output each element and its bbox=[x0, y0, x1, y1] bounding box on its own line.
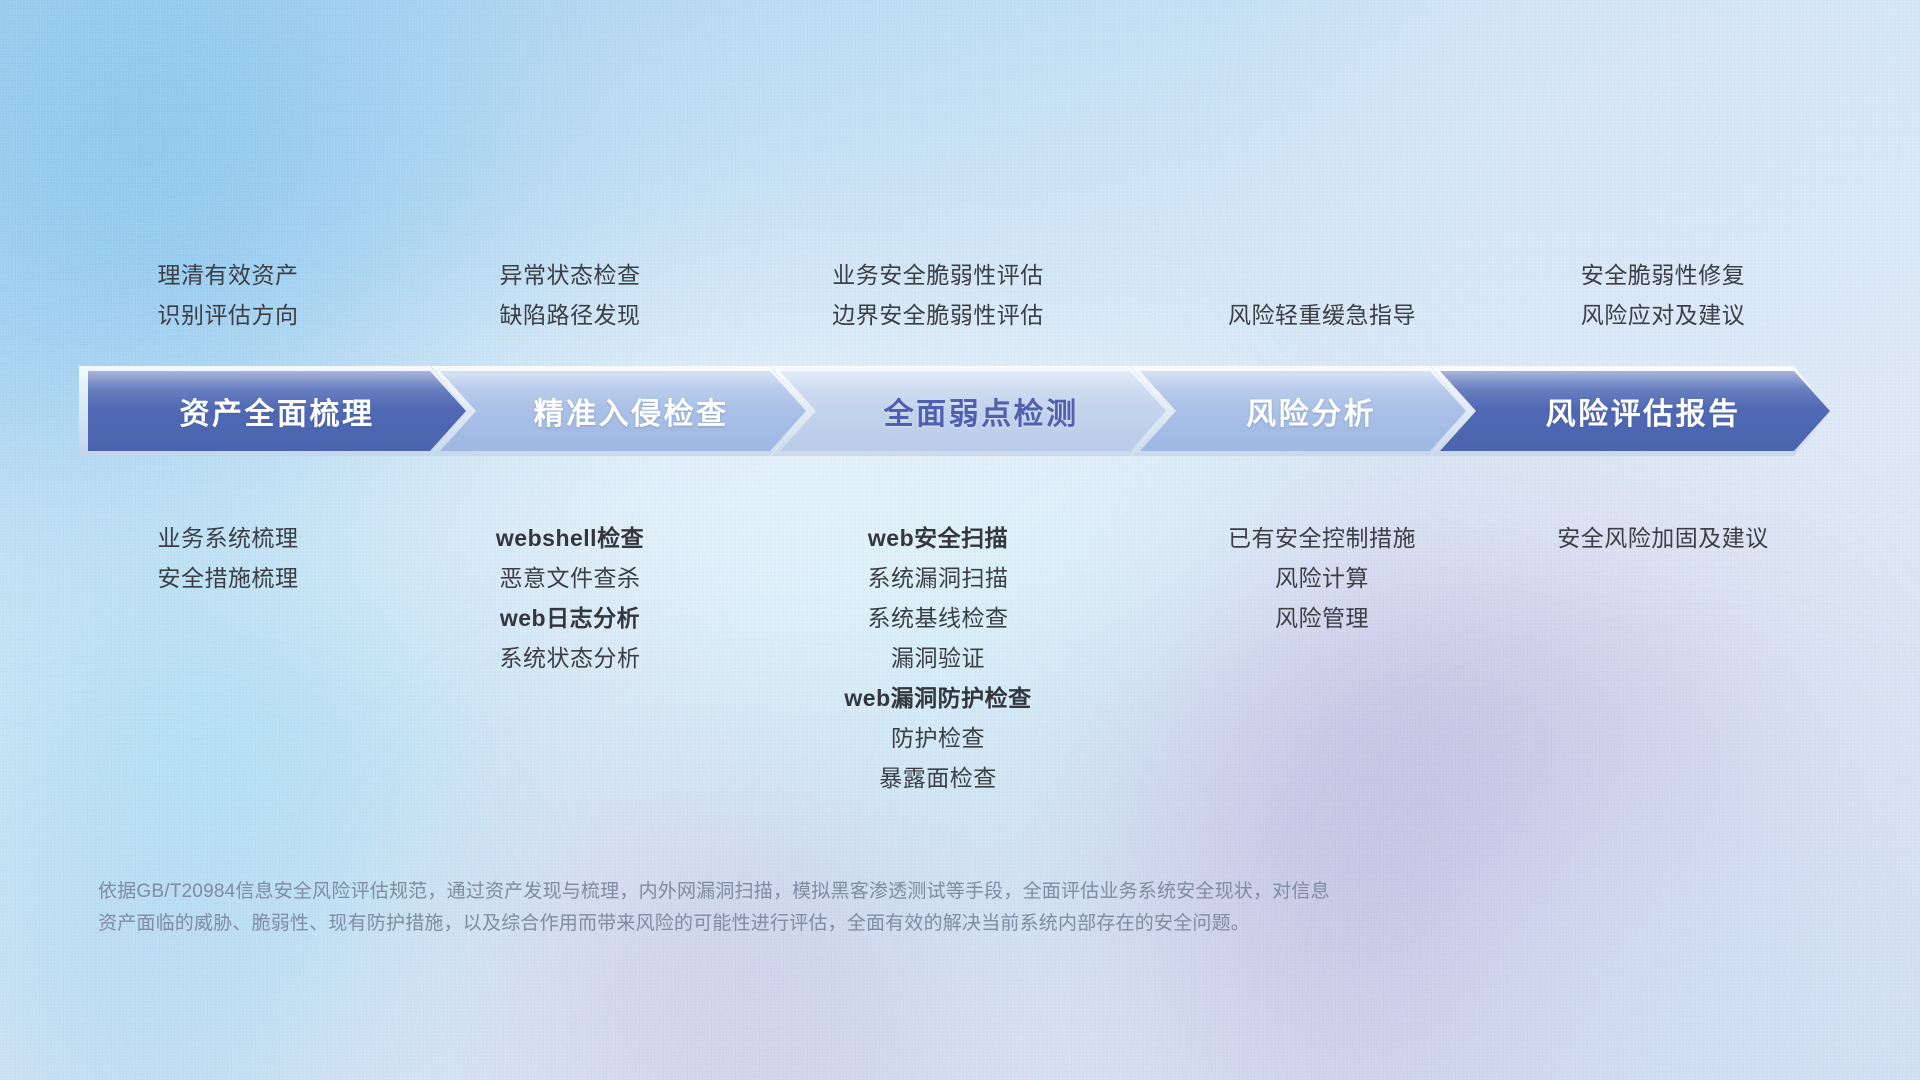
process-arrow-banner: 资产全面梳理精准入侵检查全面弱点检测风险分析风险评估报告 bbox=[88, 371, 1830, 451]
item-label: 边界安全脆弱性评估 bbox=[832, 295, 1044, 335]
stage-segment-risk-analysis[interactable]: 风险分析 bbox=[1140, 371, 1466, 451]
stage-segment-label: 精准入侵检查 bbox=[534, 389, 729, 433]
footer-description: 依据GB/T20984信息安全风险评估规范，通过资产发现与梳理，内外网漏洞扫描，… bbox=[98, 876, 1598, 940]
stage-segment-label: 资产全面梳理 bbox=[180, 389, 375, 433]
stage-segment-risk-report[interactable]: 风险评估报告 bbox=[1440, 371, 1830, 451]
item-label: web安全扫描 bbox=[844, 518, 1031, 558]
item-label: 异常状态检查 bbox=[500, 255, 641, 295]
item-label: 系统漏洞扫描 bbox=[844, 558, 1031, 598]
top-items-weakness-detection: 业务安全脆弱性评估边界安全脆弱性评估 bbox=[832, 255, 1044, 335]
item-label: 风险轻重缓急指导 bbox=[1228, 295, 1416, 335]
item-label: 风险管理 bbox=[1228, 598, 1416, 638]
item-label: 风险计算 bbox=[1228, 558, 1416, 598]
item-label: 已有安全控制措施 bbox=[1228, 518, 1416, 558]
item-label: 业务系统梳理 bbox=[158, 518, 299, 558]
top-items-risk-report: 安全脆弱性修复风险应对及建议 bbox=[1581, 255, 1746, 335]
top-items-intrusion-check: 异常状态检查缺陷路径发现 bbox=[500, 255, 641, 335]
footer-line-1: 依据GB/T20984信息安全风险评估规范，通过资产发现与梳理，内外网漏洞扫描，… bbox=[98, 876, 1598, 908]
item-label: 防护检查 bbox=[844, 718, 1031, 758]
stage-segment-label: 风险分析 bbox=[1246, 389, 1376, 433]
footer-line-2: 资产面临的威胁、脆弱性、现有防护措施，以及综合作用而带来风险的可能性进行评估，全… bbox=[98, 908, 1598, 940]
bottom-items-asset-inventory: 业务系统梳理安全措施梳理 bbox=[158, 518, 299, 598]
item-label: 缺陷路径发现 bbox=[500, 295, 641, 335]
bottom-items-risk-report: 安全风险加固及建议 bbox=[1557, 518, 1769, 558]
item-label: 暴露面检查 bbox=[844, 758, 1031, 798]
bottom-items-risk-analysis: 已有安全控制措施风险计算风险管理 bbox=[1228, 518, 1416, 638]
bottom-items-weakness-detection: web安全扫描系统漏洞扫描系统基线检查漏洞验证web漏洞防护检查防护检查暴露面检… bbox=[844, 518, 1031, 798]
item-label: 安全措施梳理 bbox=[158, 558, 299, 598]
item-label: 系统状态分析 bbox=[496, 638, 644, 678]
stage-segment-intrusion-check[interactable]: 精准入侵检查 bbox=[440, 371, 806, 451]
bottom-items-intrusion-check: webshell检查恶意文件查杀web日志分析系统状态分析 bbox=[496, 518, 644, 678]
item-label: 业务安全脆弱性评估 bbox=[832, 255, 1044, 295]
item-label: 安全风险加固及建议 bbox=[1557, 518, 1769, 558]
item-label: webshell检查 bbox=[496, 518, 644, 558]
item-label: web日志分析 bbox=[496, 598, 644, 638]
item-label: web漏洞防护检查 bbox=[844, 678, 1031, 718]
item-label: 风险应对及建议 bbox=[1581, 295, 1746, 335]
item-label: 恶意文件查杀 bbox=[496, 558, 644, 598]
stage-segment-label: 全面弱点检测 bbox=[884, 389, 1079, 433]
top-items-asset-inventory: 理清有效资产识别评估方向 bbox=[158, 255, 299, 335]
item-label: 理清有效资产 bbox=[158, 255, 299, 295]
stage-segment-weakness-detection[interactable]: 全面弱点检测 bbox=[780, 371, 1166, 451]
stage-segment-asset-inventory[interactable]: 资产全面梳理 bbox=[88, 371, 466, 451]
stage-segment-label: 风险评估报告 bbox=[1546, 389, 1741, 433]
item-label: 识别评估方向 bbox=[158, 295, 299, 335]
top-items-risk-analysis: 风险轻重缓急指导 bbox=[1228, 295, 1416, 335]
item-label: 漏洞验证 bbox=[844, 638, 1031, 678]
item-label: 系统基线检查 bbox=[844, 598, 1031, 638]
infographic-stage: 理清有效资产识别评估方向 异常状态检查缺陷路径发现 业务安全脆弱性评估边界安全脆… bbox=[0, 0, 1920, 1080]
item-label: 安全脆弱性修复 bbox=[1581, 255, 1746, 295]
